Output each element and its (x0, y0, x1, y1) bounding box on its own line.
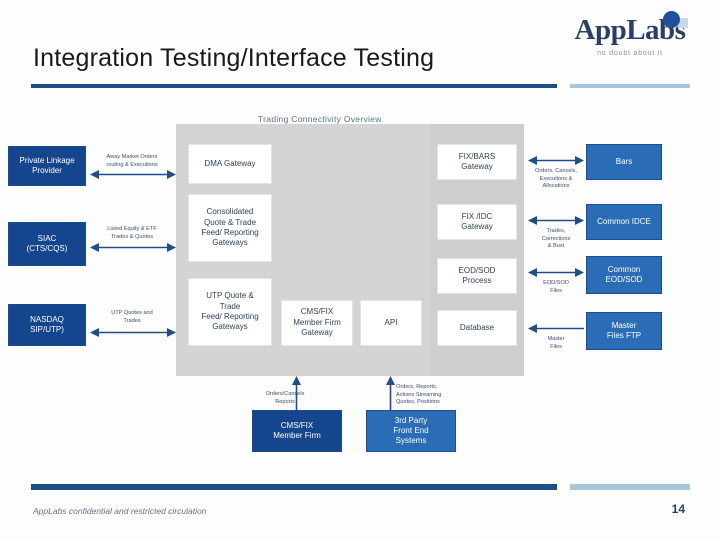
header-rule-dark (31, 84, 557, 88)
node-label: Database (460, 323, 494, 333)
node-label: Private Linkage Provider (19, 156, 74, 176)
node-label: DMA Gateway (204, 159, 255, 169)
node-private-linkage-provider[interactable]: Private Linkage Provider (8, 146, 86, 186)
node-label: SIAC (CTS/CQS) (27, 234, 68, 254)
node-cms-fix-member-firm[interactable]: CMS/FIX Member Firm (252, 410, 342, 452)
node-label: CMS/FIX Member Firm (273, 421, 321, 441)
logo-dot-icon (663, 11, 680, 28)
arrow-common-idce (528, 216, 584, 225)
node-label: EOD/SOD Process (459, 266, 496, 287)
node-api[interactable]: API (360, 300, 422, 346)
connector-label-orders-cancels-reports: Orders/Cancels Reports (250, 391, 320, 406)
arrow-common-eod-sod (528, 268, 584, 277)
arrow-nasdaq (90, 328, 176, 337)
logo-tagline: no doubt about it (564, 50, 696, 57)
node-label: Bars (616, 157, 632, 167)
footer-confidentiality-text: AppLabs confidential and restricted circ… (33, 506, 206, 516)
slide: Integration Testing/Interface Testing Ap… (0, 0, 720, 540)
node-master-files-ftp[interactable]: Master Files FTP (586, 312, 662, 350)
node-nasdaq[interactable]: NASDAQ SIP/UTP) (8, 304, 86, 346)
node-database[interactable]: Database (437, 310, 517, 346)
node-label: FIX /IDC Gateway (461, 212, 493, 233)
arrow-private-linkage (90, 170, 176, 179)
node-label: Master Files FTP (607, 321, 641, 341)
connector-label-orders-cancels-executions: Orders, Cancels, Executions & Allocation… (520, 168, 592, 191)
node-dma-gateway[interactable]: DMA Gateway (188, 144, 272, 184)
footer-rule-dark (31, 484, 557, 490)
connector-label-orders-reports-actions: Orders, Reports, Actions Streaming Quote… (396, 384, 474, 407)
node-label: UTP Quote & Trade Feed/ Reporting Gatewa… (201, 291, 258, 333)
connector-label-master-files: Master Files (520, 336, 592, 351)
trading-connectivity-diagram: Trading Connectivity Overview Private Li… (0, 98, 720, 470)
page-number: 14 (672, 502, 685, 516)
node-label: Common IDCE (597, 217, 651, 227)
node-cms-fix-member-firm-gateway[interactable]: CMS/FIX Member Firm Gateway (281, 300, 353, 346)
page-title: Integration Testing/Interface Testing (33, 44, 434, 73)
arrow-siac (90, 243, 176, 252)
node-label: Consolidated Quote & Trade Feed/ Reporti… (201, 207, 258, 249)
node-label: FIX/BARS Gateway (459, 152, 495, 173)
footer-rule-light (570, 484, 690, 490)
node-fix-bars-gateway[interactable]: FIX/BARS Gateway (437, 144, 517, 180)
node-utp-quote-trade-gateway[interactable]: UTP Quote & Trade Feed/ Reporting Gatewa… (188, 278, 272, 346)
node-label: CMS/FIX Member Firm Gateway (293, 307, 341, 338)
diagram-title: Trading Connectivity Overview (258, 114, 382, 124)
connector-label-eod-sod-files: EOD/SOD Files (520, 280, 592, 295)
node-consolidated-quote-trade-gateway[interactable]: Consolidated Quote & Trade Feed/ Reporti… (188, 194, 272, 262)
node-siac[interactable]: SIAC (CTS/CQS) (8, 222, 86, 266)
node-bars[interactable]: Bars (586, 144, 662, 180)
connector-label-listed-equity: Listed Equity & ETF Trades & Quotes (92, 226, 172, 241)
node-third-party-front-end-systems[interactable]: 3rd Party Front End Systems (366, 410, 456, 452)
connector-label-away-market-orders: Away Market Orders routing & Executions (92, 154, 172, 169)
arrow-bars (528, 156, 584, 165)
node-common-eod-sod[interactable]: Common EOD/SOD (586, 256, 662, 294)
connector-label-trades-corrections-bust: Trades, Corrections & Bust (520, 228, 592, 251)
node-label: API (385, 318, 398, 328)
node-eod-sod-process[interactable]: EOD/SOD Process (437, 258, 517, 294)
node-label: NASDAQ SIP/UTP) (30, 315, 64, 335)
header-rule-light (570, 84, 690, 88)
arrow-master-files (528, 324, 584, 333)
node-common-idce[interactable]: Common IDCE (586, 204, 662, 240)
connector-label-utp-quotes: UTP Quotes and Trades (92, 310, 172, 325)
node-label: 3rd Party Front End Systems (393, 416, 428, 446)
node-label: Common EOD/SOD (606, 265, 643, 285)
node-fix-idc-gateway[interactable]: FIX /IDC Gateway (437, 204, 517, 240)
applabs-logo: AppLabs no doubt about it (564, 16, 696, 78)
